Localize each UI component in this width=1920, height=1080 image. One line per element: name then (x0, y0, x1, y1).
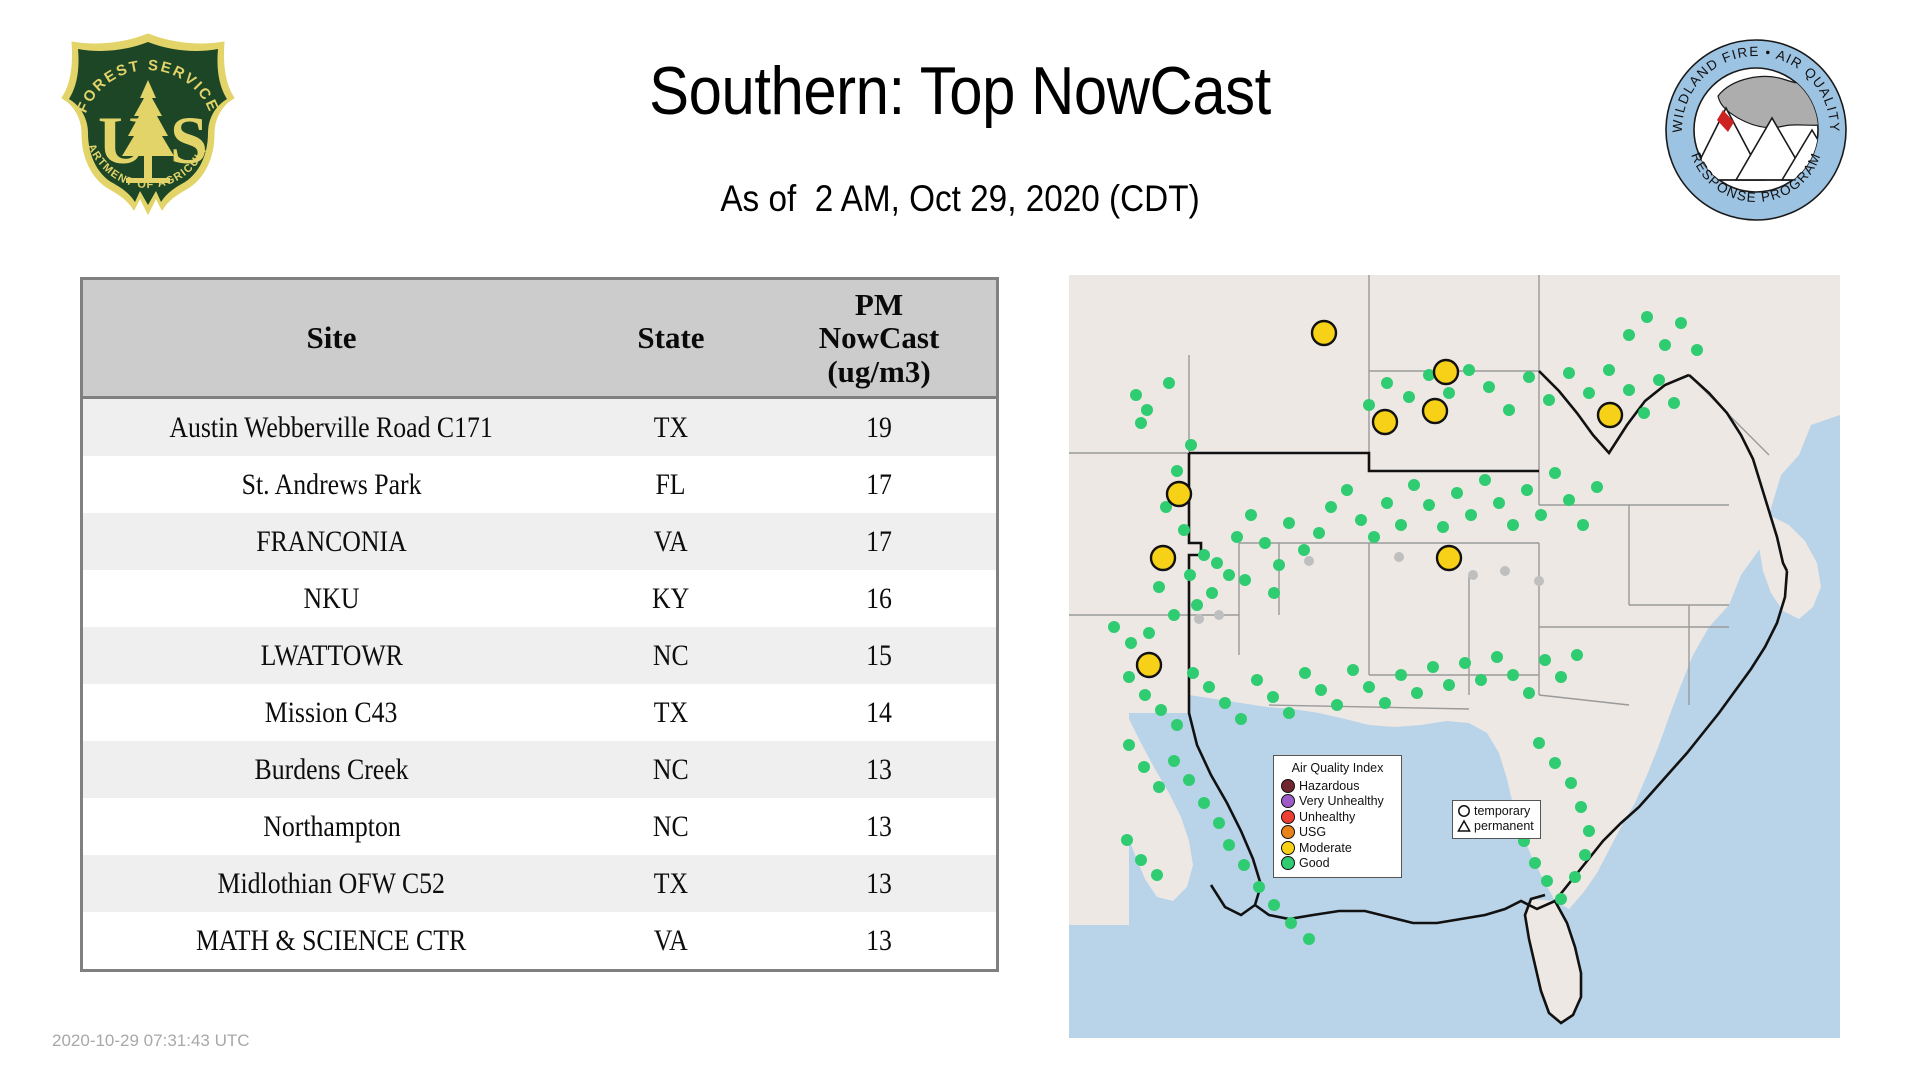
station-marker-good[interactable] (1185, 439, 1197, 451)
station-marker-good[interactable] (1283, 517, 1295, 529)
station-marker-good[interactable] (1245, 509, 1257, 521)
station-marker-good[interactable] (1191, 599, 1203, 611)
site-cell: LWATTOWR (82, 627, 581, 684)
state-cell: TX (580, 684, 762, 741)
station-marker-good[interactable] (1251, 674, 1263, 686)
station-marker-good[interactable] (1507, 669, 1519, 681)
station-marker-good[interactable] (1153, 581, 1165, 593)
station-marker-moderate[interactable] (1167, 482, 1191, 506)
pm-value-cell: 13 (762, 798, 998, 855)
pm-value-cell: 17 (762, 456, 998, 513)
station-marker-good[interactable] (1641, 311, 1653, 323)
table-row: MATH & SCIENCE CTRVA13 (82, 912, 998, 971)
pm-value-cell: 17 (762, 513, 998, 570)
station-marker-good[interactable] (1141, 404, 1153, 416)
station-marker-good[interactable] (1675, 317, 1687, 329)
station-marker-good[interactable] (1465, 509, 1477, 521)
station-marker-good[interactable] (1395, 669, 1407, 681)
state-cell-text: KY (652, 582, 689, 616)
station-marker-good[interactable] (1223, 839, 1235, 851)
site-cell: Austin Webberville Road C171 (82, 398, 581, 457)
pm-value-cell-text: 14 (866, 696, 892, 730)
marker-legend-label-permanent: permanent (1474, 819, 1534, 834)
site-cell: St. Andrews Park (82, 456, 581, 513)
pm-value-cell: 13 (762, 741, 998, 798)
station-marker-good[interactable] (1203, 681, 1215, 693)
station-marker-good[interactable] (1507, 519, 1519, 531)
station-marker-good[interactable] (1379, 697, 1391, 709)
station-marker-good[interactable] (1198, 797, 1210, 809)
station-marker-moderate[interactable] (1434, 360, 1458, 384)
state-cell-text: NC (653, 753, 689, 787)
station-marker-offline[interactable] (1500, 566, 1510, 576)
station-marker-good[interactable] (1315, 684, 1327, 696)
station-marker-good[interactable] (1187, 667, 1199, 679)
site-cell-text: LWATTOWR (260, 639, 402, 673)
pm-value-cell: 15 (762, 627, 998, 684)
site-cell-text: Mission C43 (265, 696, 398, 730)
station-marker-offline[interactable] (1304, 556, 1314, 566)
pm-value-cell-text: 17 (866, 468, 892, 502)
station-marker-good[interactable] (1535, 509, 1547, 521)
station-marker-good[interactable] (1395, 519, 1407, 531)
station-marker-good[interactable] (1541, 875, 1553, 887)
station-marker-good[interactable] (1285, 917, 1297, 929)
aqi-legend-label: Very Unhealthy (1299, 794, 1384, 808)
station-marker-good[interactable] (1571, 649, 1583, 661)
station-marker-good[interactable] (1408, 479, 1420, 491)
aqi-legend-swatch-icon (1281, 856, 1295, 870)
station-marker-moderate[interactable] (1312, 321, 1336, 345)
station-marker-good[interactable] (1603, 364, 1615, 376)
station-marker-good[interactable] (1555, 893, 1567, 905)
station-marker-good[interactable] (1563, 367, 1575, 379)
pm-value-cell: 19 (762, 398, 998, 457)
table-row: Mission C43TX14 (82, 684, 998, 741)
station-marker-good[interactable] (1437, 521, 1449, 533)
pm-value-cell: 13 (762, 912, 998, 971)
station-marker-good[interactable] (1325, 501, 1337, 513)
page-subtitle: As of 2 AM, Oct 29, 2020 (CDT) (339, 178, 1581, 220)
aqi-legend: Air Quality Index HazardousVery Unhealth… (1273, 755, 1402, 878)
station-marker-good[interactable] (1583, 387, 1595, 399)
station-marker-good[interactable] (1121, 834, 1133, 846)
pm-value-cell-text: 13 (866, 924, 892, 958)
top-nowcast-table: Site State PM NowCast (ug/m3) Austin Web… (80, 277, 999, 972)
site-cell-text: MATH & SCIENCE CTR (196, 924, 466, 958)
state-cell: FL (580, 456, 762, 513)
station-marker-good[interactable] (1235, 713, 1247, 725)
station-marker-good[interactable] (1539, 654, 1551, 666)
state-cell-text: NC (653, 639, 689, 673)
station-marker-offline[interactable] (1534, 576, 1544, 586)
wildland-fire-air-quality-logo: WILDLAND FIRE • AIR QUALITY RESPONSE PRO… (1660, 34, 1852, 226)
aqi-legend-rows: HazardousVery UnhealthyUnhealthyUSGModer… (1281, 778, 1394, 871)
site-cell-text: Burdens Creek (254, 753, 408, 787)
station-marker-good[interactable] (1153, 781, 1165, 793)
aqi-legend-swatch-icon (1281, 794, 1295, 808)
state-cell: VA (580, 513, 762, 570)
station-marker-good[interactable] (1475, 674, 1487, 686)
station-marker-good[interactable] (1163, 377, 1175, 389)
station-marker-good[interactable] (1503, 404, 1515, 416)
station-marker-good[interactable] (1135, 417, 1147, 429)
station-marker-good[interactable] (1213, 817, 1225, 829)
station-marker-good[interactable] (1211, 557, 1223, 569)
station-marker-good[interactable] (1575, 801, 1587, 813)
pm-value-cell-text: 16 (866, 582, 892, 616)
pm-value-cell-text: 15 (866, 639, 892, 673)
station-marker-good[interactable] (1341, 484, 1353, 496)
station-marker-good[interactable] (1198, 549, 1210, 561)
station-marker-good[interactable] (1135, 854, 1147, 866)
station-marker-offline[interactable] (1394, 552, 1404, 562)
site-cell-text: Midlothian OFW C52 (218, 867, 445, 901)
station-marker-good[interactable] (1171, 465, 1183, 477)
aqi-legend-swatch-icon (1281, 825, 1295, 839)
table-row: LWATTOWRNC15 (82, 627, 998, 684)
station-marker-good[interactable] (1267, 691, 1279, 703)
state-cell-text: TX (654, 696, 688, 730)
station-marker-good[interactable] (1583, 825, 1595, 837)
station-marker-good[interactable] (1363, 399, 1375, 411)
station-marker-good[interactable] (1443, 387, 1455, 399)
station-marker-good[interactable] (1168, 609, 1180, 621)
station-marker-offline[interactable] (1468, 570, 1478, 580)
table-body: Austin Webberville Road C171TX19St. Andr… (82, 398, 998, 971)
station-marker-good[interactable] (1171, 719, 1183, 731)
site-cell-text: Northampton (263, 810, 401, 844)
pm-value-cell-text: 13 (866, 810, 892, 844)
station-marker-good[interactable] (1529, 857, 1541, 869)
station-marker-good[interactable] (1381, 497, 1393, 509)
station-marker-good[interactable] (1579, 849, 1591, 861)
station-marker-good[interactable] (1273, 559, 1285, 571)
table-row: Burdens CreekNC13 (82, 741, 998, 798)
state-cell-text: VA (654, 924, 688, 958)
state-cell-text: TX (654, 867, 688, 901)
station-marker-good[interactable] (1463, 364, 1475, 376)
state-cell-text: FL (656, 468, 686, 502)
site-cell: MATH & SCIENCE CTR (82, 912, 581, 971)
station-marker-good[interactable] (1123, 739, 1135, 751)
station-marker-good[interactable] (1368, 531, 1380, 543)
pm-header-line-2: NowCast (762, 321, 996, 354)
marker-legend-label-temporary: temporary (1474, 804, 1534, 819)
pm-value-cell-text: 17 (866, 525, 892, 559)
pm-value-cell: 16 (762, 570, 998, 627)
map-svg (1069, 275, 1840, 1038)
station-marker-good[interactable] (1363, 681, 1375, 693)
station-marker-good[interactable] (1668, 397, 1680, 409)
station-marker-good[interactable] (1381, 377, 1393, 389)
station-marker-moderate[interactable] (1598, 403, 1622, 427)
station-marker-good[interactable] (1130, 389, 1142, 401)
station-marker-good[interactable] (1549, 757, 1561, 769)
station-marker-good[interactable] (1403, 391, 1415, 403)
station-marker-good[interactable] (1355, 514, 1367, 526)
station-marker-good[interactable] (1459, 657, 1471, 669)
aqi-legend-label: USG (1299, 825, 1326, 839)
pm-value-cell: 13 (762, 855, 998, 912)
forest-service-logo: U S FOREST SERVICE DEPARTMENT OF AGRICUL… (48, 28, 248, 228)
station-marker-good[interactable] (1523, 687, 1535, 699)
table-row: NorthamptonNC13 (82, 798, 998, 855)
station-marker-good[interactable] (1347, 664, 1359, 676)
table-row: Midlothian OFW C52TX13 (82, 855, 998, 912)
station-marker-good[interactable] (1549, 467, 1561, 479)
site-cell: FRANCONIA (82, 513, 581, 570)
temporary-circle-icon (1457, 804, 1471, 819)
table-row: FRANCONIAVA17 (82, 513, 998, 570)
station-marker-good[interactable] (1483, 381, 1495, 393)
table-row: Austin Webberville Road C171TX19 (82, 398, 998, 457)
station-marker-good[interactable] (1206, 587, 1218, 599)
station-marker-good[interactable] (1569, 871, 1581, 883)
state-cell: TX (580, 398, 762, 457)
station-marker-good[interactable] (1108, 621, 1120, 633)
pm-value-cell-text: 13 (866, 753, 892, 787)
station-marker-good[interactable] (1238, 859, 1250, 871)
aqi-legend-item: Very Unhealthy (1281, 794, 1394, 810)
station-marker-good[interactable] (1659, 339, 1671, 351)
table-row: NKUKY16 (82, 570, 998, 627)
state-cell-text: VA (654, 525, 688, 559)
station-marker-moderate[interactable] (1423, 399, 1447, 423)
station-marker-good[interactable] (1303, 933, 1315, 945)
station-marker-good[interactable] (1638, 407, 1650, 419)
station-marker-good[interactable] (1623, 384, 1635, 396)
site-cell-text: Austin Webberville Road C171 (170, 411, 494, 445)
state-cell: KY (580, 570, 762, 627)
aqi-legend-item: Hazardous (1281, 778, 1394, 794)
site-cell-text: FRANCONIA (256, 525, 407, 559)
station-marker-moderate[interactable] (1151, 546, 1175, 570)
state-cell: NC (580, 798, 762, 855)
state-cell: NC (580, 627, 762, 684)
table-row: St. Andrews ParkFL17 (82, 456, 998, 513)
station-marker-good[interactable] (1123, 671, 1135, 683)
station-marker-good[interactable] (1219, 697, 1231, 709)
column-header-state: State (580, 279, 762, 398)
aqi-legend-swatch-icon (1281, 779, 1295, 793)
station-marker-good[interactable] (1565, 777, 1577, 789)
site-cell: Mission C43 (82, 684, 581, 741)
station-marker-good[interactable] (1183, 774, 1195, 786)
station-marker-good[interactable] (1451, 487, 1463, 499)
station-marker-good[interactable] (1563, 494, 1575, 506)
station-marker-good[interactable] (1283, 707, 1295, 719)
station-marker-good[interactable] (1231, 531, 1243, 543)
station-marker-moderate[interactable] (1137, 653, 1161, 677)
station-marker-good[interactable] (1591, 481, 1603, 493)
station-marker-good[interactable] (1299, 667, 1311, 679)
footer-timestamp: 2020-10-29 07:31:43 UTC (52, 1031, 250, 1051)
table-header-row: Site State PM NowCast (ug/m3) (82, 279, 998, 398)
station-marker-good[interactable] (1427, 661, 1439, 673)
station-marker-good[interactable] (1223, 569, 1235, 581)
permanent-triangle-icon (1457, 819, 1471, 834)
column-header-pm-nowcast: PM NowCast (ug/m3) (762, 279, 998, 398)
station-marker-good[interactable] (1239, 574, 1251, 586)
site-cell: NKU (82, 570, 581, 627)
station-marker-good[interactable] (1623, 329, 1635, 341)
station-marker-good[interactable] (1155, 704, 1167, 716)
station-marker-good[interactable] (1331, 699, 1343, 711)
aqi-legend-item: Unhealthy (1281, 809, 1394, 825)
station-marker-moderate[interactable] (1437, 546, 1461, 570)
station-marker-good[interactable] (1268, 587, 1280, 599)
station-marker-good[interactable] (1491, 651, 1503, 663)
station-marker-good[interactable] (1143, 627, 1155, 639)
marker-type-legend: temporary permanent (1452, 800, 1541, 839)
aqi-legend-label: Good (1299, 856, 1330, 870)
aqi-legend-label: Hazardous (1299, 779, 1359, 793)
site-cell-text: St. Andrews Park (242, 468, 422, 502)
aqi-map[interactable] (1069, 275, 1840, 1038)
station-marker-good[interactable] (1125, 637, 1137, 649)
station-marker-good[interactable] (1151, 869, 1163, 881)
station-marker-good[interactable] (1533, 737, 1545, 749)
station-marker-good[interactable] (1423, 499, 1435, 511)
station-marker-good[interactable] (1184, 569, 1196, 581)
station-marker-good[interactable] (1259, 537, 1271, 549)
state-cell-text: TX (654, 411, 688, 445)
pm-value-cell: 14 (762, 684, 998, 741)
state-cell: NC (580, 741, 762, 798)
station-marker-offline[interactable] (1194, 614, 1204, 624)
state-cell-text: NC (653, 810, 689, 844)
station-marker-good[interactable] (1523, 371, 1535, 383)
aqi-legend-swatch-icon (1281, 810, 1295, 824)
station-marker-good[interactable] (1253, 881, 1265, 893)
aqi-legend-label: Moderate (1299, 841, 1352, 855)
station-marker-good[interactable] (1313, 527, 1325, 539)
aqi-legend-title: Air Quality Index (1281, 761, 1394, 775)
site-cell-text: NKU (304, 582, 360, 616)
aqi-legend-item: Moderate (1281, 840, 1394, 856)
aqi-legend-label: Unhealthy (1299, 810, 1355, 824)
station-marker-good[interactable] (1411, 687, 1423, 699)
page-title: Southern: Top NowCast (353, 52, 1567, 130)
station-marker-good[interactable] (1298, 544, 1310, 556)
station-marker-good[interactable] (1138, 761, 1150, 773)
station-marker-good[interactable] (1178, 524, 1190, 536)
station-marker-good[interactable] (1139, 689, 1151, 701)
station-marker-offline[interactable] (1214, 610, 1224, 620)
station-marker-good[interactable] (1543, 394, 1555, 406)
station-marker-good[interactable] (1521, 484, 1533, 496)
station-marker-good[interactable] (1493, 497, 1505, 509)
station-marker-good[interactable] (1577, 519, 1589, 531)
station-marker-good[interactable] (1168, 755, 1180, 767)
site-cell: Burdens Creek (82, 741, 581, 798)
site-cell: Midlothian OFW C52 (82, 855, 581, 912)
pm-header-line-1: PM (762, 288, 996, 321)
station-marker-good[interactable] (1555, 671, 1567, 683)
station-marker-good[interactable] (1691, 344, 1703, 356)
state-cell: VA (580, 912, 762, 971)
station-marker-moderate[interactable] (1373, 410, 1397, 434)
station-marker-good[interactable] (1653, 374, 1665, 386)
aqi-legend-item: Good (1281, 856, 1394, 872)
station-marker-good[interactable] (1268, 899, 1280, 911)
station-marker-good[interactable] (1443, 679, 1455, 691)
column-header-site: Site (82, 279, 581, 398)
pm-value-cell-text: 19 (866, 411, 892, 445)
site-cell: Northampton (82, 798, 581, 855)
pm-header-line-3: (ug/m3) (762, 355, 996, 388)
station-marker-good[interactable] (1479, 474, 1491, 486)
aqi-legend-swatch-icon (1281, 841, 1295, 855)
pm-value-cell-text: 13 (866, 867, 892, 901)
state-cell: TX (580, 855, 762, 912)
aqi-legend-item: USG (1281, 825, 1394, 841)
